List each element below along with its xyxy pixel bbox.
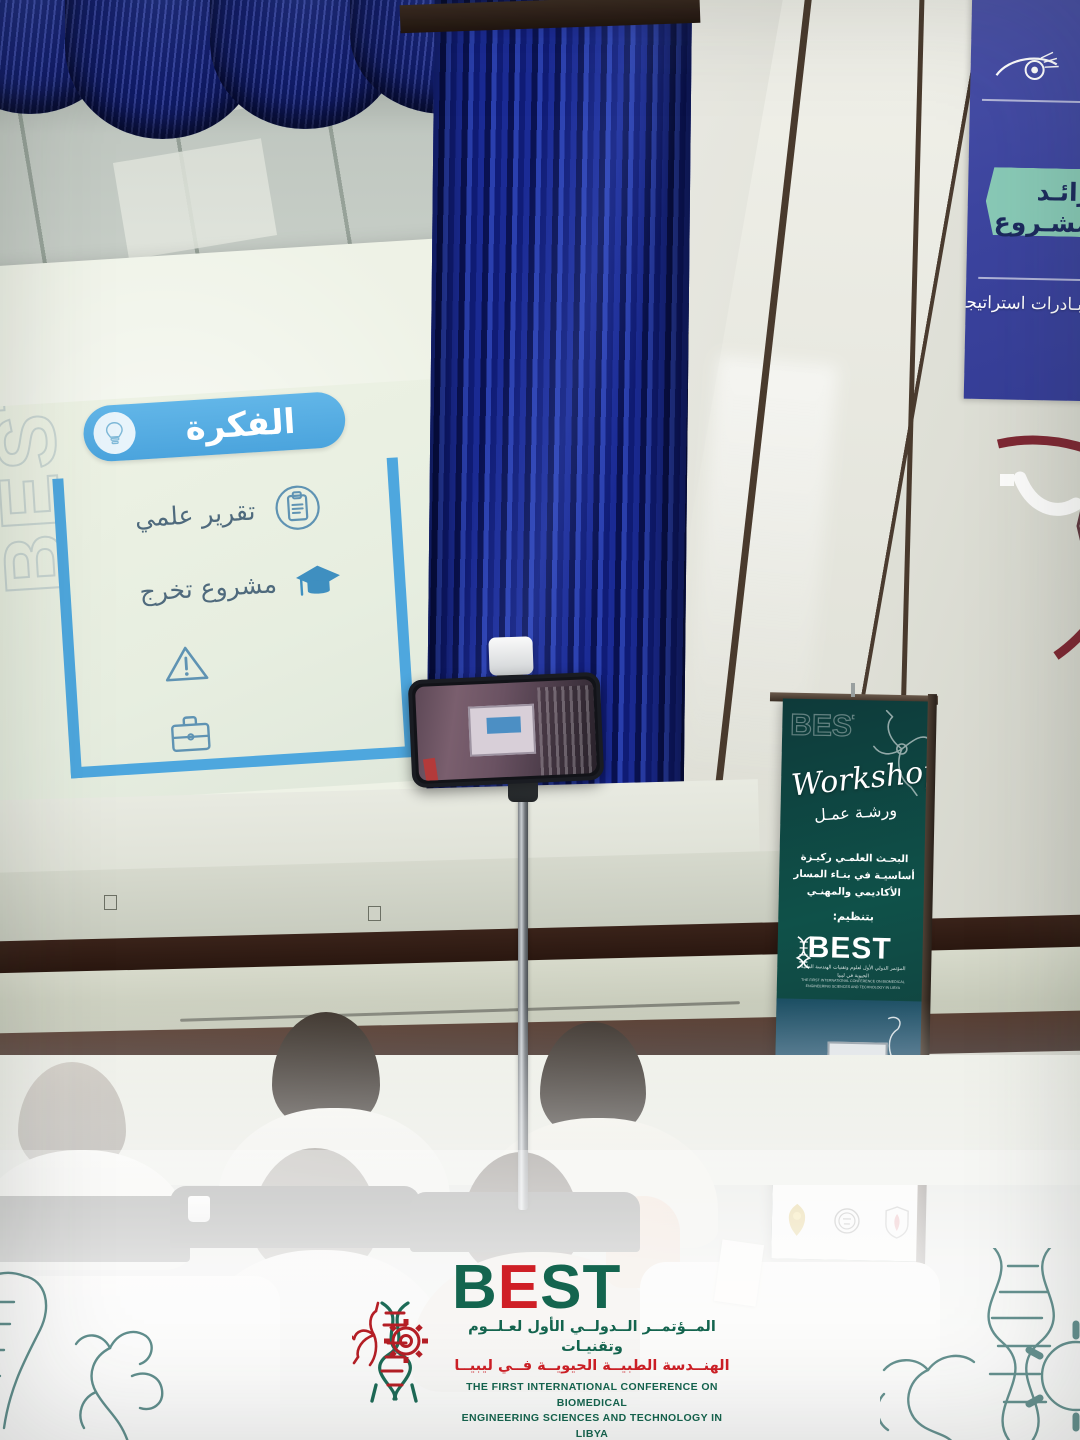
- banner-best-word: BEST: [807, 931, 918, 967]
- smartphone-camera[interactable]: [408, 672, 605, 789]
- graduation-cap-icon: [293, 555, 344, 606]
- best-letter-b: B: [452, 1253, 498, 1322]
- phone-preview-slide: [486, 716, 521, 734]
- best-letter-s: S: [540, 1253, 582, 1322]
- auditorium-seat: [0, 1276, 280, 1440]
- auditorium-seat: [0, 1196, 190, 1262]
- clipboard-icon: [272, 482, 323, 533]
- banner-organizer-label: بتنظيم:: [786, 909, 920, 925]
- warning-triangle-icon: [161, 638, 212, 689]
- best-letter-e: E: [498, 1253, 540, 1322]
- institute-shield: [882, 1202, 913, 1243]
- tripod-pole[interactable]: [518, 790, 528, 1210]
- banner-pole: [851, 683, 855, 697]
- best-arabic-line2: الهنــدسة الطبيــة الحيويــة فــي ليبيــ…: [452, 1357, 732, 1377]
- slide-item-2-label: مشروع تخرج: [139, 569, 278, 607]
- slide-title: الفكرة: [144, 396, 337, 454]
- banner-arabic-body: البحـث العلمـي ركيـزة أساسيـة في بنـاء ا…: [787, 849, 922, 903]
- best-english-subtitle: THE FIRST INTERNATIONAL CONFERENCE ON BI…: [452, 1380, 732, 1440]
- photo-scene: رائـد مشـروع مبـادرات استراتيجية BEST: [0, 0, 1080, 1440]
- banner-best-english: THE FIRST INTERNATIONAL CONFERENCE ON BI…: [797, 978, 909, 992]
- banner-best-watermark: BEST: [784, 703, 855, 750]
- best-arabic-line1: المــؤتمــر الــدولــي الأول لعـلــوم وت…: [452, 1318, 732, 1357]
- libya-state-emblem: [782, 1200, 813, 1241]
- phone-preview-curtain: [537, 685, 597, 781]
- best-letter-t: T: [583, 1253, 622, 1322]
- university-seal: [832, 1201, 863, 1242]
- poster-divider: [982, 99, 1080, 103]
- eye-institute-logo: [994, 49, 1061, 90]
- banner-sponsor-logos: [771, 1180, 923, 1261]
- best-wordmark: BEST: [452, 1259, 732, 1316]
- svg-text:BEST: BEST: [790, 709, 855, 744]
- wall-poster-blue: رائـد مشـروع مبـادرات استراتيجية: [964, 0, 1080, 401]
- phone-preview-screen: [468, 704, 536, 757]
- phone-screen[interactable]: [415, 679, 597, 781]
- best-conference-logo: BEST المــؤتمــر الــدولــي الأول لعـلــ…: [352, 1288, 732, 1414]
- best-english-line2: ENGINEERING SCIENCES AND TECHNOLOGY IN L…: [452, 1411, 732, 1440]
- slide-item-1-label: تقرير علمي: [134, 496, 256, 533]
- briefcase-icon: [165, 707, 216, 758]
- poster-footer-text: مبـادرات استراتيجية: [964, 290, 1080, 318]
- led-video-light[interactable]: [488, 636, 533, 676]
- wall-outlet: [368, 906, 381, 921]
- best-english-line1: THE FIRST INTERNATIONAL CONFERENCE ON BI…: [452, 1380, 732, 1412]
- paper-cup: [188, 1196, 210, 1222]
- poster-divider: [978, 277, 1080, 281]
- maroon-shield-emblem: [990, 430, 1080, 660]
- phone-preview-accent: [423, 758, 439, 781]
- lightbulb-icon: [92, 411, 137, 456]
- dna-gear-neuron-mark: [352, 1297, 440, 1405]
- wall-outlet: [104, 895, 117, 910]
- best-arabic-subtitle: المــؤتمــر الــدولــي الأول لعـلــوم وت…: [452, 1318, 732, 1377]
- slide-title-pill: الفكرة: [82, 391, 347, 463]
- best-logo-text: BEST المــؤتمــر الــدولــي الأول لعـلــ…: [452, 1259, 732, 1440]
- poster-badge-text: رائـد مشـروع: [964, 174, 1080, 240]
